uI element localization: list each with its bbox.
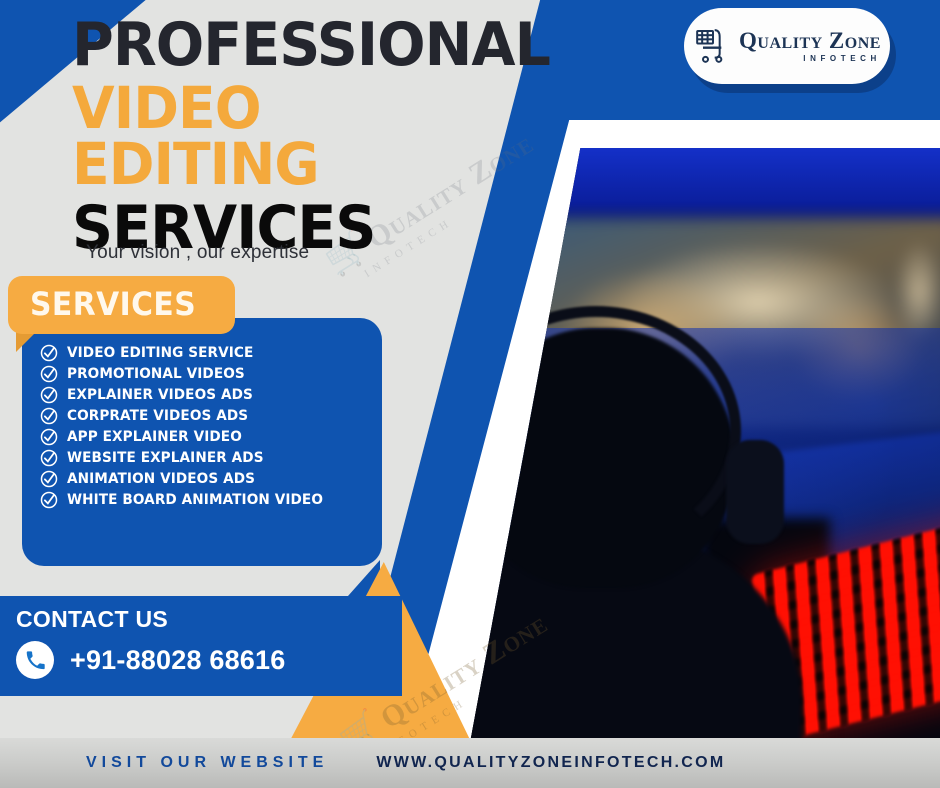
contact-title: CONTACT US: [16, 606, 402, 633]
service-label: WEBSITE EXPLAINER ADS: [67, 450, 264, 466]
services-list: VIDEO EDITING SERVICE PROMOTIONAL VIDEOS…: [40, 344, 366, 509]
tagline: Your vision , our expertise: [86, 242, 309, 264]
check-circle-icon: [40, 428, 58, 446]
list-item[interactable]: ANIMATION VIDEOS ADS: [40, 470, 366, 488]
headline-line-2: VIDEO EDITING: [72, 80, 490, 193]
phone-glyph-icon: [25, 650, 46, 671]
check-circle-icon: [40, 386, 58, 404]
service-label: VIDEO EDITING SERVICE: [67, 345, 253, 361]
poster-canvas: 🛒Quality Zone INFOTECH 🛒Quality Zone INF…: [0, 0, 940, 788]
logo-text-block: Quality Zone INFOTECH: [739, 29, 881, 63]
check-circle-icon: [40, 470, 58, 488]
list-item[interactable]: APP EXPLAINER VIDEO: [40, 428, 366, 446]
footer-website-url[interactable]: WWW.QUALITYZONEINFOTECH.COM: [376, 754, 725, 772]
headline-line-1: PROFESSIONAL: [72, 16, 490, 74]
list-item[interactable]: CORPRATE VIDEOS ADS: [40, 407, 366, 425]
list-item[interactable]: WEBSITE EXPLAINER ADS: [40, 449, 366, 467]
contact-phone-row[interactable]: +91-88028 68616: [16, 641, 402, 679]
service-label: WHITE BOARD ANIMATION VIDEO: [67, 492, 323, 508]
check-circle-icon: [40, 344, 58, 362]
headline-block: PROFESSIONAL VIDEO EDITING SERVICES: [72, 16, 512, 257]
headphone-right-cup: [726, 440, 784, 544]
list-item[interactable]: EXPLAINER VIDEOS ADS: [40, 386, 366, 404]
service-label: APP EXPLAINER VIDEO: [67, 429, 242, 445]
check-circle-icon: [40, 449, 58, 467]
check-circle-icon: [40, 407, 58, 425]
footer-bar: VISIT OUR WEBSITE WWW.QUALITYZONEINFOTEC…: [0, 738, 940, 788]
footer-visit-label: VISIT OUR WEBSITE: [86, 754, 328, 772]
list-item[interactable]: VIDEO EDITING SERVICE: [40, 344, 366, 362]
list-item[interactable]: WHITE BOARD ANIMATION VIDEO: [40, 491, 366, 509]
service-label: EXPLAINER VIDEOS ADS: [67, 387, 253, 403]
list-item[interactable]: PROMOTIONAL VIDEOS: [40, 365, 366, 383]
services-tag-label: SERVICES: [30, 285, 196, 323]
service-label: ANIMATION VIDEOS ADS: [67, 471, 255, 487]
logo-name: Quality Zone: [739, 29, 881, 52]
shopping-cart-icon: [693, 26, 733, 66]
logo-subtitle: INFOTECH: [739, 55, 881, 63]
service-label: PROMOTIONAL VIDEOS: [67, 366, 245, 382]
service-label: CORPRATE VIDEOS ADS: [67, 408, 248, 424]
services-card: VIDEO EDITING SERVICE PROMOTIONAL VIDEOS…: [22, 318, 382, 566]
phone-number: +91-88028 68616: [70, 645, 285, 676]
phone-icon: [16, 641, 54, 679]
check-circle-icon: [40, 491, 58, 509]
services-tag: SERVICES: [8, 276, 235, 334]
brand-logo: Quality Zone INFOTECH: [684, 8, 890, 84]
contact-section: CONTACT US +91-88028 68616: [0, 596, 402, 696]
check-circle-icon: [40, 365, 58, 383]
